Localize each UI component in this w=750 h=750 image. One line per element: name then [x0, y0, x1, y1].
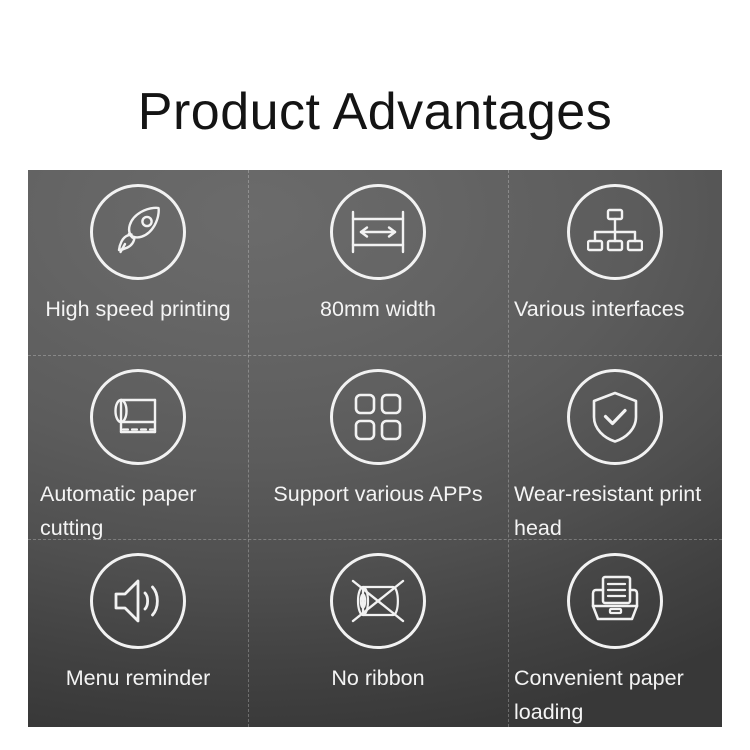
speaker-volume-icon [90, 553, 186, 649]
printer-icon [567, 553, 663, 649]
rocket-icon [90, 184, 186, 280]
advantages-panel: High speed printing 80mm width [28, 170, 722, 727]
feature-label: Menu reminder [66, 661, 211, 695]
feature-item-convenient-paper-loading: Convenient paper loading [508, 539, 722, 727]
feature-item-wear-resistant-print-head: Wear-resistant print head [508, 355, 722, 539]
feature-item-80mm-width: 80mm width [248, 170, 508, 355]
feature-item-menu-reminder: Menu reminder [28, 539, 248, 727]
shield-check-icon [567, 369, 663, 465]
feature-label: Wear-resistant print head [514, 477, 722, 545]
feature-item-no-ribbon: No ribbon [248, 539, 508, 727]
paper-width-measure-icon [330, 184, 426, 280]
feature-label: 80mm width [320, 292, 436, 326]
paper-roll-cutter-icon [90, 369, 186, 465]
feature-label: Automatic paper cutting [40, 477, 248, 545]
page-title: Product Advantages [0, 81, 750, 143]
feature-item-support-various-apps: Support various APPs [248, 355, 508, 539]
feature-item-high-speed-printing: High speed printing [28, 170, 248, 355]
feature-label: Convenient paper loading [514, 661, 722, 727]
no-ribbon-crossed-icon [330, 553, 426, 649]
feature-item-automatic-paper-cutting: Automatic paper cutting [28, 355, 248, 539]
feature-label: No ribbon [331, 661, 424, 695]
network-hierarchy-icon [567, 184, 663, 280]
feature-label: High speed printing [45, 292, 230, 326]
feature-grid: High speed printing 80mm width [28, 170, 722, 727]
feature-label: Support various APPs [273, 477, 482, 511]
feature-item-various-interfaces: Various interfaces [508, 170, 722, 355]
apps-grid-icon [330, 369, 426, 465]
feature-label: Various interfaces [514, 292, 685, 326]
